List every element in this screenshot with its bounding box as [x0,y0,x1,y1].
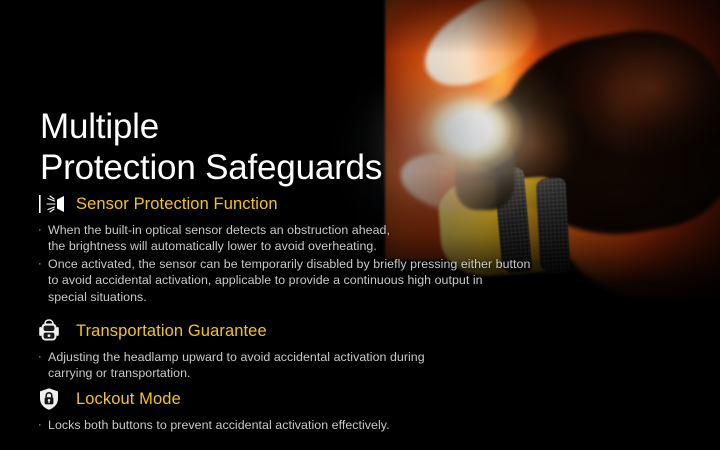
bullet-marker: · [38,349,48,382]
backpack-icon [38,318,68,344]
section-transportation-guarantee: Transportation Guarantee · Adjusting the… [38,318,425,382]
sensor-beam-icon [38,191,68,217]
bullet-text: Adjusting the headlamp upward to avoid a… [48,349,425,382]
section-bullets: · Locks both buttons to prevent accident… [38,417,390,433]
section-title: Sensor Protection Function [76,194,278,214]
section-title: Transportation Guarantee [76,321,267,341]
page-title: Multiple Protection Safeguards [40,106,382,188]
bullet-text: Once activated, the sensor can be tempor… [48,256,530,305]
section-bullets: · When the built-in optical sensor detec… [38,222,530,305]
bullet-text: When the built-in optical sensor detects… [48,222,390,255]
section-lockout-mode: Lockout Mode · Locks both buttons to pre… [38,386,390,433]
product-feature-slide: Multiple Protection Safeguards [0,0,720,450]
section-header: Sensor Protection Function [38,191,530,217]
bullet-item: · When the built-in optical sensor detec… [38,222,530,255]
bullet-marker: · [38,222,48,255]
bullet-text: Locks both buttons to prevent accidental… [48,417,390,433]
bullet-marker: · [38,256,48,305]
bullet-marker: · [38,417,48,433]
section-sensor-protection-function: Sensor Protection Function · When the bu… [38,191,530,305]
shield-lock-icon [38,386,68,412]
section-header: Transportation Guarantee [38,318,425,344]
bullet-item: · Once activated, the sensor can be temp… [38,256,530,305]
bullet-item: · Adjusting the headlamp upward to avoid… [38,349,425,382]
section-title: Lockout Mode [76,389,181,409]
section-bullets: · Adjusting the headlamp upward to avoid… [38,349,425,382]
section-header: Lockout Mode [38,386,390,412]
bullet-item: · Locks both buttons to prevent accident… [38,417,390,433]
slide-content: Multiple Protection Safeguards [0,0,720,450]
